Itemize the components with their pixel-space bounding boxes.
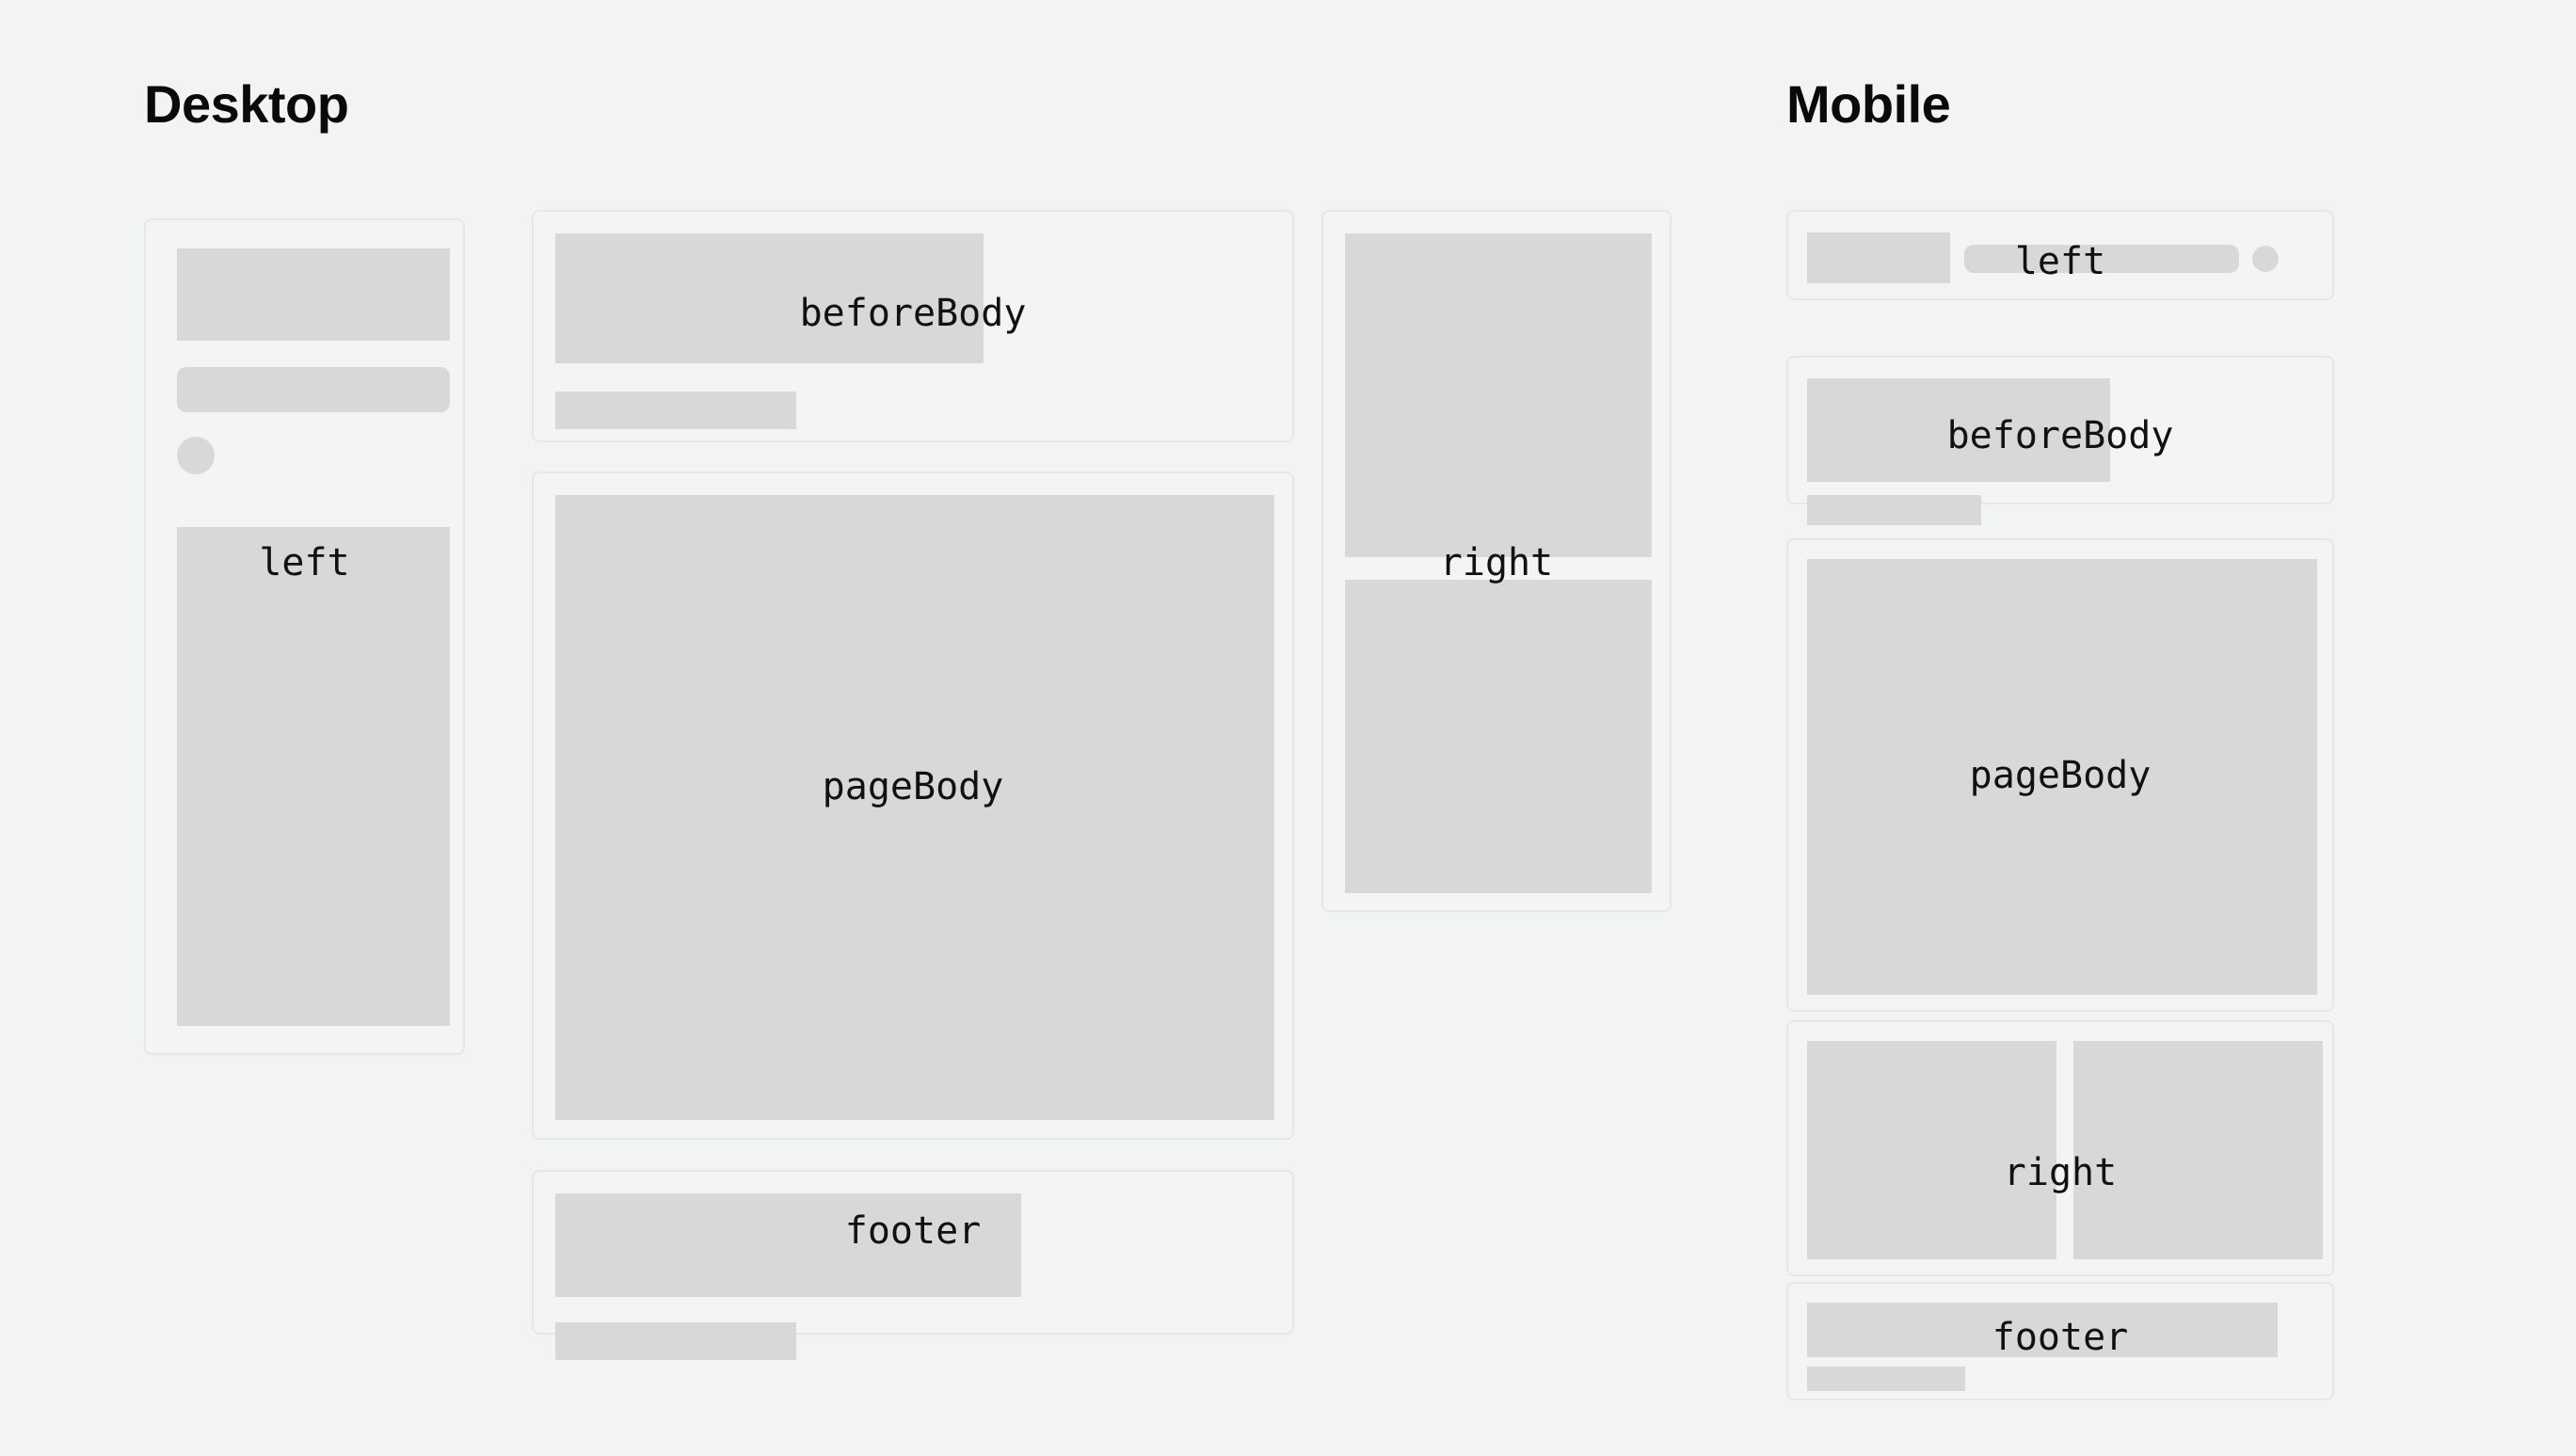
skeleton-block [1807, 378, 2110, 482]
skeleton-block [555, 1193, 1021, 1297]
desktop-region-left[interactable] [144, 218, 465, 1055]
skeleton-block-left [1807, 1041, 2056, 1259]
skeleton-block-right [2073, 1041, 2323, 1259]
desktop-region-right[interactable] [1321, 210, 1672, 912]
skeleton-bar [555, 1322, 796, 1360]
skeleton-bar [1964, 245, 2239, 273]
skeleton-block-top [1345, 233, 1652, 557]
desktop-region-footer[interactable] [532, 1170, 1294, 1335]
skeleton-dot [177, 437, 215, 474]
mobile-region-pagebody[interactable] [1786, 538, 2334, 1012]
skeleton-bar [555, 392, 796, 429]
skeleton-block [1807, 559, 2317, 995]
skeleton-block-bottom [1345, 580, 1652, 893]
skeleton-block [177, 248, 450, 341]
skeleton-block [1807, 1303, 2278, 1357]
skeleton-block [555, 233, 984, 363]
section-title-mobile: Mobile [1786, 78, 1950, 131]
skeleton-dot [2252, 246, 2279, 272]
mobile-region-beforebody[interactable] [1786, 356, 2334, 504]
section-title-desktop: Desktop [144, 78, 348, 131]
skeleton-bar [177, 367, 450, 412]
skeleton-bar [1807, 495, 1981, 525]
skeleton-bar [1807, 1367, 1965, 1391]
layout-wireframe-stage: Desktop left beforeBody pageBody footer … [0, 0, 2576, 1456]
skeleton-block [1807, 232, 1950, 283]
desktop-region-pagebody[interactable] [532, 472, 1294, 1140]
mobile-region-left[interactable] [1786, 210, 2334, 300]
skeleton-block [555, 495, 1274, 1120]
desktop-region-beforebody[interactable] [532, 210, 1294, 442]
mobile-region-right[interactable] [1786, 1020, 2334, 1276]
skeleton-panel [177, 527, 450, 1026]
mobile-region-footer[interactable] [1786, 1282, 2334, 1400]
